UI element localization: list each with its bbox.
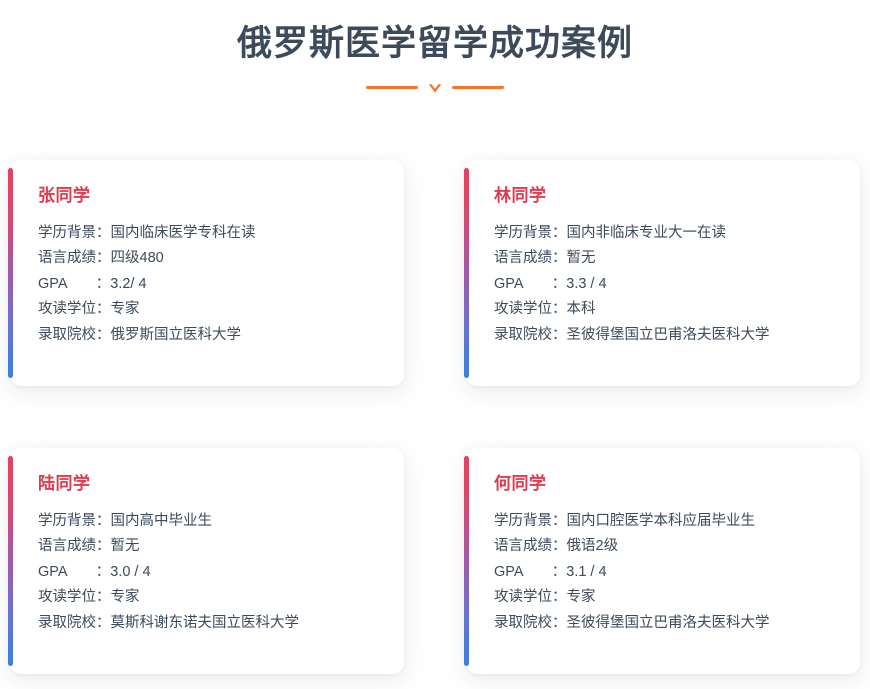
info-value: 国内非临床专业大一在读 xyxy=(567,225,727,241)
info-value: 国内口腔医学本科应届毕业生 xyxy=(567,513,756,529)
info-label: 录取院校： xyxy=(494,327,567,343)
info-value: 圣彼得堡国立巴甫洛夫医科大学 xyxy=(567,327,770,343)
info-row-education: 学历背景：国内非临床专业大一在读 xyxy=(494,220,838,246)
student-name: 林同学 xyxy=(494,186,838,206)
info-label: 语言成绩： xyxy=(494,250,567,266)
info-label: 录取院校： xyxy=(494,615,567,631)
info-row-language: 语言成绩：暂无 xyxy=(494,246,838,272)
info-value: 暂无 xyxy=(111,538,140,554)
info-label: 语言成绩： xyxy=(38,538,111,554)
info-value: 3.0 / 4 xyxy=(110,564,150,580)
info-row-degree: 攻读学位：专家 xyxy=(38,297,382,323)
info-value: 暂无 xyxy=(567,250,596,266)
info-row-gpa: GPA ：3.1 / 4 xyxy=(494,559,838,585)
student-info-list: 学历背景：国内非临床专业大一在读 语言成绩：暂无 GPA ：3.3 / 4 攻读… xyxy=(494,220,838,348)
case-card[interactable]: 林同学 学历背景：国内非临床专业大一在读 语言成绩：暂无 GPA ：3.3 / … xyxy=(466,160,860,386)
info-label: 攻读学位： xyxy=(38,301,111,317)
info-value: 国内高中毕业生 xyxy=(111,513,213,529)
info-row-gpa: GPA ：3.0 / 4 xyxy=(38,559,382,585)
info-label: 语言成绩： xyxy=(38,250,111,266)
info-row-gpa: GPA ：3.2/ 4 xyxy=(38,271,382,297)
info-row-degree: 攻读学位：专家 xyxy=(494,585,838,611)
divider-line-right xyxy=(452,86,504,89)
info-value: 3.2/ 4 xyxy=(110,276,146,292)
case-cards-grid: 张同学 学历背景：国内临床医学专科在读 语言成绩：四级480 GPA ：3.2/… xyxy=(10,160,860,674)
info-value: 专家 xyxy=(567,589,596,605)
info-label: 攻读学位： xyxy=(38,589,111,605)
student-info-list: 学历背景：国内口腔医学本科应届毕业生 语言成绩：俄语2级 GPA ：3.1 / … xyxy=(494,508,838,636)
title-divider xyxy=(0,77,870,99)
student-name: 张同学 xyxy=(38,186,382,206)
info-label: 录取院校： xyxy=(38,327,111,343)
case-card[interactable]: 张同学 学历背景：国内临床医学专科在读 语言成绩：四级480 GPA ：3.2/… xyxy=(10,160,404,386)
info-row-language: 语言成绩：俄语2级 xyxy=(494,534,838,560)
info-value: 专家 xyxy=(111,589,140,605)
info-row-university: 录取院校：莫斯科谢东诺夫国立医科大学 xyxy=(38,610,382,636)
info-label: GPA ： xyxy=(38,276,110,292)
info-label: 学历背景： xyxy=(494,513,567,529)
info-value: 专家 xyxy=(111,301,140,317)
info-row-education: 学历背景：国内口腔医学本科应届毕业生 xyxy=(494,508,838,534)
info-row-university: 录取院校：俄罗斯国立医科大学 xyxy=(38,322,382,348)
info-label: 学历背景： xyxy=(494,225,567,241)
info-label: 攻读学位： xyxy=(494,589,567,605)
info-label: GPA ： xyxy=(38,564,110,580)
student-name: 陆同学 xyxy=(38,474,382,494)
info-row-education: 学历背景：国内高中毕业生 xyxy=(38,508,382,534)
info-value: 圣彼得堡国立巴甫洛夫医科大学 xyxy=(567,615,770,631)
info-value: 3.1 / 4 xyxy=(566,564,606,580)
info-value: 俄罗斯国立医科大学 xyxy=(111,327,242,343)
info-row-language: 语言成绩：暂无 xyxy=(38,534,382,560)
divider-line-left xyxy=(366,86,418,89)
student-name: 何同学 xyxy=(494,474,838,494)
info-row-degree: 攻读学位：本科 xyxy=(494,297,838,323)
info-label: GPA ： xyxy=(494,564,566,580)
info-label: 学历背景： xyxy=(38,225,111,241)
info-value: 国内临床医学专科在读 xyxy=(111,225,256,241)
student-info-list: 学历背景：国内高中毕业生 语言成绩：暂无 GPA ：3.0 / 4 攻读学位：专… xyxy=(38,508,382,636)
info-label: 攻读学位： xyxy=(494,301,567,317)
info-row-university: 录取院校：圣彼得堡国立巴甫洛夫医科大学 xyxy=(494,610,838,636)
info-row-education: 学历背景：国内临床医学专科在读 xyxy=(38,220,382,246)
info-value: 俄语2级 xyxy=(567,538,619,554)
info-value: 四级480 xyxy=(111,250,164,266)
info-value: 莫斯科谢东诺夫国立医科大学 xyxy=(111,615,300,631)
student-info-list: 学历背景：国内临床医学专科在读 语言成绩：四级480 GPA ：3.2/ 4 攻… xyxy=(38,220,382,348)
info-row-language: 语言成绩：四级480 xyxy=(38,246,382,272)
info-label: 录取院校： xyxy=(38,615,111,631)
info-label: GPA ： xyxy=(494,276,566,292)
info-row-degree: 攻读学位：专家 xyxy=(38,585,382,611)
page-root: 俄罗斯医学留学成功案例 张同学 学历背景：国内临床医学专科在读 语言成绩：四级4… xyxy=(0,0,870,689)
info-row-university: 录取院校：圣彼得堡国立巴甫洛夫医科大学 xyxy=(494,322,838,348)
page-title: 俄罗斯医学留学成功案例 xyxy=(0,22,870,66)
info-label: 语言成绩： xyxy=(494,538,567,554)
case-card[interactable]: 何同学 学历背景：国内口腔医学本科应届毕业生 语言成绩：俄语2级 GPA ：3.… xyxy=(466,448,860,674)
info-value: 本科 xyxy=(567,301,596,317)
info-row-gpa: GPA ：3.3 / 4 xyxy=(494,271,838,297)
info-value: 3.3 / 4 xyxy=(566,276,606,292)
page-header: 俄罗斯医学留学成功案例 xyxy=(0,0,870,99)
case-card[interactable]: 陆同学 学历背景：国内高中毕业生 语言成绩：暂无 GPA ：3.0 / 4 攻读… xyxy=(10,448,404,674)
info-label: 学历背景： xyxy=(38,513,111,529)
chevron-down-icon xyxy=(428,83,442,95)
